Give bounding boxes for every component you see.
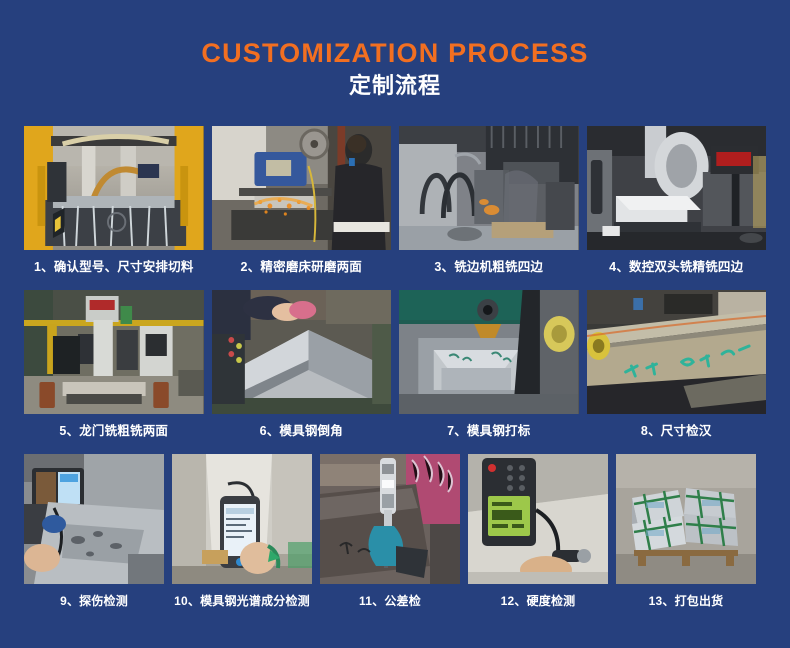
process-step-2-caption: 2、精密磨床研磨两面 [212,250,392,282]
process-step-12[interactable]: 12、硬度检测 [468,454,608,616]
process-step-10-caption: 10、模具钢光谱成分检测 [172,584,312,616]
process-step-9[interactable]: 9、探伤检测 [24,454,164,616]
process-step-12-caption: 12、硬度检测 [468,584,608,616]
process-row-3: 9、探伤检测 [24,454,766,616]
page-header: CUSTOMIZATION PROCESS 定制流程 [0,0,790,101]
page-title-chinese: 定制流程 [0,71,790,101]
process-step-9-caption: 9、探伤检测 [24,584,164,616]
process-step-3-image [399,126,579,250]
process-step-8-caption: 8、尺寸检汉 [587,414,767,446]
process-step-10-image [172,454,312,584]
process-step-11[interactable]: 11、公差检 [320,454,460,616]
process-step-13-image [616,454,756,584]
process-step-12-image [468,454,608,584]
process-step-9-image [24,454,164,584]
process-step-4[interactable]: 4、数控双头铣精铣四边 [587,126,767,282]
process-step-5-caption: 5、龙门铣粗铣两面 [24,414,204,446]
page-title-english: CUSTOMIZATION PROCESS [0,38,790,68]
process-step-5-image [24,290,204,414]
process-step-4-image [587,126,767,250]
process-step-6[interactable]: 6、模具钢倒角 [212,290,392,446]
process-row-1: 1、确认型号、尺寸安排切料 [24,126,766,282]
process-row-2: 5、龙门铣粗铣两面 [24,290,766,446]
process-step-7-image [399,290,579,414]
process-step-4-caption: 4、数控双头铣精铣四边 [587,250,767,282]
process-step-13-caption: 13、打包出货 [616,584,756,616]
process-step-1-caption: 1、确认型号、尺寸安排切料 [24,250,204,282]
process-step-6-image [212,290,392,414]
process-step-11-caption: 11、公差检 [320,584,460,616]
customization-process-page: CUSTOMIZATION PROCESS 定制流程 [0,0,790,648]
process-step-2-image [212,126,392,250]
process-step-8-image [587,290,767,414]
process-grid: 1、确认型号、尺寸安排切料 [0,126,790,616]
process-step-1[interactable]: 1、确认型号、尺寸安排切料 [24,126,204,282]
process-step-8[interactable]: 8、尺寸检汉 [587,290,767,446]
process-step-1-image [24,126,204,250]
process-step-3-caption: 3、铣边机粗铣四边 [399,250,579,282]
process-step-5[interactable]: 5、龙门铣粗铣两面 [24,290,204,446]
process-step-11-image [320,454,460,584]
process-step-7-caption: 7、模具钢打标 [399,414,579,446]
process-step-3[interactable]: 3、铣边机粗铣四边 [399,126,579,282]
process-step-2[interactable]: 2、精密磨床研磨两面 [212,126,392,282]
process-step-13[interactable]: 13、打包出货 [616,454,756,616]
process-step-10[interactable]: 10、模具钢光谱成分检测 [172,454,312,616]
process-step-6-caption: 6、模具钢倒角 [212,414,392,446]
process-step-7[interactable]: 7、模具钢打标 [399,290,579,446]
